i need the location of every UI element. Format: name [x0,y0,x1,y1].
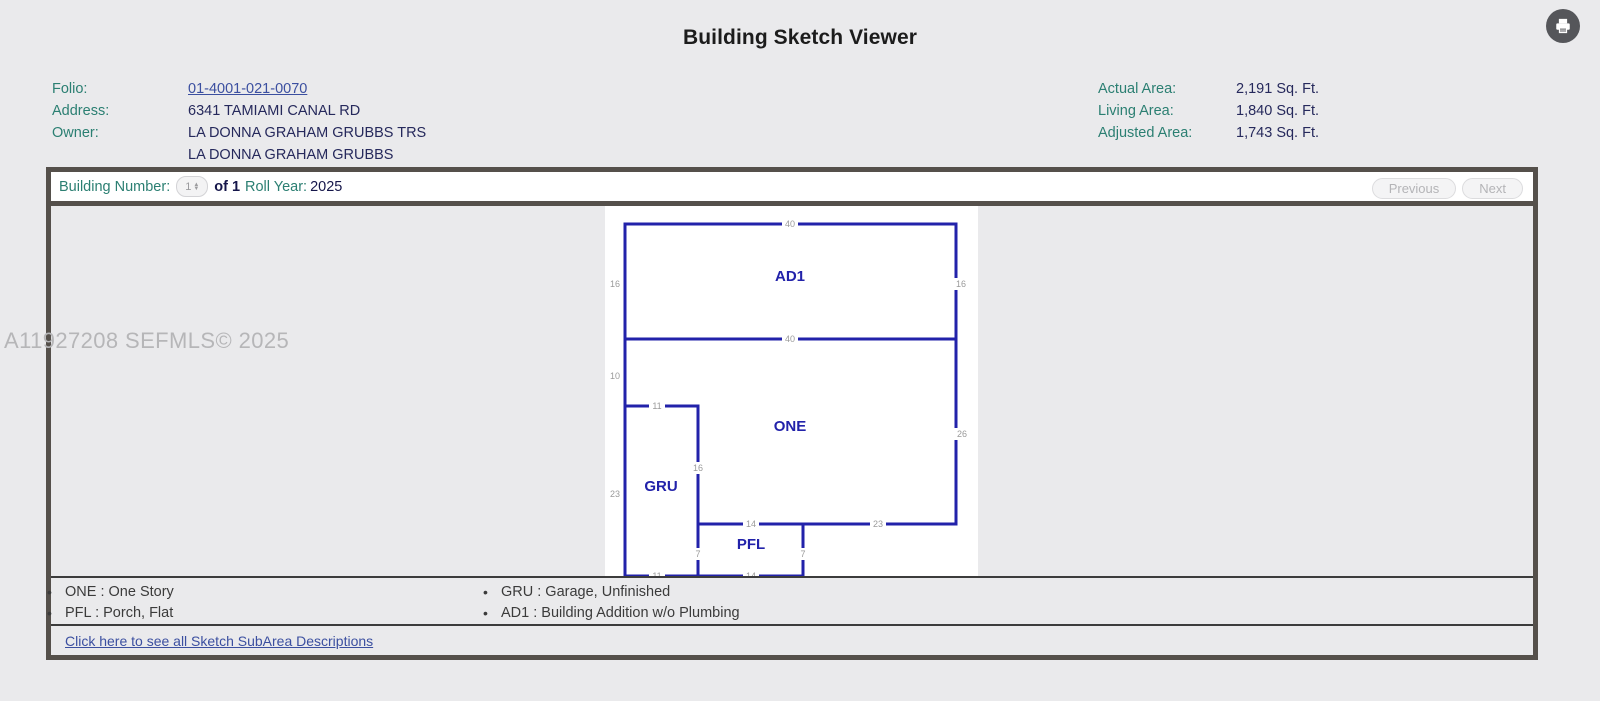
sketch-dimension-11: 7 [695,549,700,559]
bullet-icon: • [483,603,488,624]
info-row-adjusted-area: Adjusted Area: 1,743 Sq. Ft. [1098,122,1319,144]
sketch-dimension-6: 16 [693,463,703,473]
bullet-icon: • [47,582,52,603]
bullet-icon: • [483,582,488,603]
roll-year-label: Roll Year: [245,179,307,195]
nav-buttons: Previous Next [1372,178,1523,199]
actual-area-value: 2,191 Sq. Ft. [1236,78,1319,100]
legend-footer: Click here to see all Sketch SubArea Des… [51,626,1533,656]
adjusted-area-label: Adjusted Area: [1098,122,1236,144]
living-area-label: Living Area: [1098,100,1236,122]
building-sketch-drawing: AD1ONEGRUPFL 401616401011162623142377111… [605,206,978,576]
sketch-canvas[interactable]: AD1ONEGRUPFL 401616401011162623142377111… [605,206,978,576]
owner-value-2: LA DONNA GRAHAM GRUBBS [188,144,393,166]
sketch-label-ad1: AD1 [775,268,805,285]
legend-item-pfl: • PFL : Porch, Flat [65,603,174,624]
sketch-dimension-4: 10 [610,371,620,381]
info-row-owner-2: LA DONNA GRAHAM GRUBBS [52,144,426,166]
sketch-dimension-9: 14 [746,519,756,529]
legend-column-1: • ONE : One Story • PFL : Porch, Flat [65,582,174,624]
owner-label: Owner: [52,122,188,144]
sketch-label-one: ONE [774,418,807,435]
property-info: Folio: 01-4001-021-0070 Address: 6341 TA… [0,78,1600,162]
building-count-label: of 1 [214,179,240,195]
legend-item-ad1: • AD1 : Building Addition w/o Plumbing [501,603,740,624]
legend-item-pfl-text: PFL : Porch, Flat [65,605,173,621]
print-button[interactable] [1546,9,1580,43]
sketch-dimension-1: 16 [610,279,620,289]
owner-label-blank [52,144,188,166]
previous-button[interactable]: Previous [1372,178,1457,199]
sketch-panel: Building Number: 1 ▲▼ of 1 Roll Year: 20… [46,167,1538,660]
legend-column-2: • GRU : Garage, Unfinished • AD1 : Build… [501,582,740,624]
sketch-dimension-2: 16 [956,279,966,289]
sketch-toolbar: Building Number: 1 ▲▼ of 1 Roll Year: 20… [51,172,1533,206]
legend-item-gru: • GRU : Garage, Unfinished [501,582,740,603]
actual-area-label: Actual Area: [1098,78,1236,100]
sketch-area: AD1ONEGRUPFL 401616401011162623142377111… [51,206,1533,576]
property-info-left: Folio: 01-4001-021-0070 Address: 6341 TA… [52,78,426,166]
sketch-dimension-7: 26 [957,429,967,439]
building-number-value: 1 [185,181,191,193]
sketch-dimension-0: 40 [785,219,795,229]
sketch-dimension-5: 11 [652,401,661,411]
legend-item-one: • ONE : One Story [65,582,174,603]
building-number-label: Building Number: [59,179,170,195]
page-title: Building Sketch Viewer [0,0,1600,50]
sketch-dimension-3: 40 [785,334,795,344]
sketch-dimension-8: 23 [610,489,620,499]
property-info-right: Actual Area: 2,191 Sq. Ft. Living Area: … [1098,78,1319,144]
print-icon [1554,17,1572,35]
owner-value-1: LA DONNA GRAHAM GRUBBS TRS [188,122,426,144]
address-value: 6341 TAMIAMI CANAL RD [188,100,360,122]
info-row-living-area: Living Area: 1,840 Sq. Ft. [1098,100,1319,122]
bullet-icon: • [47,603,52,624]
legend-item-gru-text: GRU : Garage, Unfinished [501,584,670,600]
sketch-dimension-10: 23 [873,519,883,529]
legend-item-ad1-text: AD1 : Building Addition w/o Plumbing [501,605,740,621]
info-row-folio: Folio: 01-4001-021-0070 [52,78,426,100]
sketch-label-pfl: PFL [737,536,765,553]
sketch-legend: • ONE : One Story • PFL : Porch, Flat • … [51,576,1533,626]
next-button[interactable]: Next [1462,178,1523,199]
sketch-area-labels: AD1ONEGRUPFL [644,268,806,553]
living-area-value: 1,840 Sq. Ft. [1236,100,1319,122]
legend-item-one-text: ONE : One Story [65,584,174,600]
address-label: Address: [52,100,188,122]
folio-label: Folio: [52,78,188,100]
sketch-label-gru: GRU [644,478,677,495]
info-row-actual-area: Actual Area: 2,191 Sq. Ft. [1098,78,1319,100]
stepper-arrows-icon: ▲▼ [193,183,199,191]
building-number-stepper[interactable]: 1 ▲▼ [176,176,208,197]
roll-year-value: 2025 [310,179,342,195]
sketch-dimension-12: 7 [800,549,805,559]
info-row-owner: Owner: LA DONNA GRAHAM GRUBBS TRS [52,122,426,144]
info-row-address: Address: 6341 TAMIAMI CANAL RD [52,100,426,122]
adjusted-area-value: 1,743 Sq. Ft. [1236,122,1319,144]
folio-link[interactable]: 01-4001-021-0070 [188,78,307,100]
subarea-descriptions-link[interactable]: Click here to see all Sketch SubArea Des… [65,633,373,649]
